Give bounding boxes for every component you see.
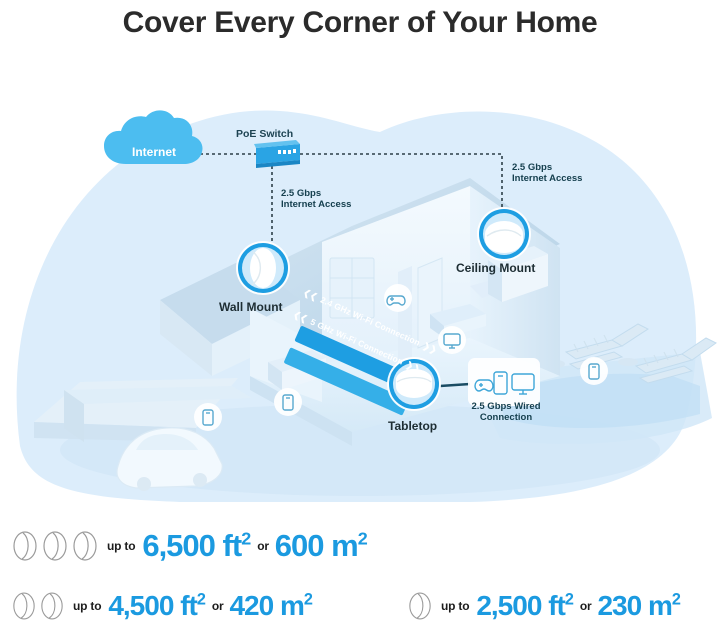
coverage-separator: or bbox=[257, 539, 269, 553]
coverage-row-two-pack: up to 4,500 ft2 or 420 m2 bbox=[12, 590, 313, 622]
home-coverage-diagram: ❮❮2.4 GHz Wi-Fi Connection❯❯ ❮❮5 GHz Wi-… bbox=[0, 46, 720, 506]
ceiling-mount-uplink-label: 2.5 Gbps Internet Access bbox=[512, 163, 582, 185]
poe-switch-label: PoE Switch bbox=[236, 128, 293, 140]
poe-switch-icon bbox=[254, 140, 300, 168]
deco-unit-icons bbox=[12, 530, 98, 562]
tabletop-label: Tabletop bbox=[388, 420, 437, 434]
wall-mount-label: Wall Mount bbox=[219, 301, 283, 315]
deco-unit-icons bbox=[408, 591, 432, 621]
product-feature-graphic: Cover Every Corner of Your Home bbox=[0, 0, 720, 628]
deco-unit-icon bbox=[12, 530, 38, 562]
client-device-phone-room bbox=[274, 388, 302, 416]
coverage-row-three-pack: up to 6,500 ft2 or 600 m2 bbox=[12, 528, 368, 564]
client-device-phone-poolside bbox=[580, 357, 608, 385]
page-title: Cover Every Corner of Your Home bbox=[0, 0, 720, 46]
coverage-prefix: up to bbox=[441, 599, 469, 613]
coverage-separator: or bbox=[580, 599, 592, 613]
tabletop-wired-label: 2.5 Gbps Wired Connection bbox=[458, 402, 554, 424]
coverage-metric-value: 600 m2 bbox=[275, 528, 368, 564]
deco-unit-icons bbox=[12, 591, 64, 621]
deco-unit-icon bbox=[12, 591, 36, 621]
wall-mount-uplink-label: 2.5 Gbps Internet Access bbox=[281, 189, 351, 211]
deco-unit-icon bbox=[408, 591, 432, 621]
coverage-separator: or bbox=[212, 599, 224, 613]
deco-unit-icon bbox=[42, 530, 68, 562]
internet-cloud-label: Internet bbox=[115, 146, 193, 160]
coverage-stats: up to 6,500 ft2 or 600 m2 up to 4,500 ft… bbox=[0, 506, 720, 628]
wall-mount-node-icon bbox=[236, 241, 290, 295]
client-device-phone-hall bbox=[194, 403, 222, 431]
client-device-gamepad bbox=[384, 284, 412, 312]
coverage-prefix: up to bbox=[107, 539, 135, 553]
coverage-imperial-value: 4,500 ft2 bbox=[108, 590, 206, 622]
ceiling-mount-node-icon bbox=[477, 207, 531, 261]
coverage-imperial-value: 6,500 ft2 bbox=[142, 528, 251, 564]
coverage-prefix: up to bbox=[73, 599, 101, 613]
coverage-imperial-value: 2,500 ft2 bbox=[476, 590, 574, 622]
deco-unit-icon bbox=[72, 530, 98, 562]
coverage-row-one-pack: up to 2,500 ft2 or 230 m2 bbox=[408, 590, 681, 622]
ceiling-mount-label: Ceiling Mount bbox=[456, 262, 535, 276]
diagram-illustration bbox=[0, 46, 720, 506]
coverage-metric-value: 230 m2 bbox=[597, 590, 680, 622]
coverage-metric-value: 420 m2 bbox=[229, 590, 312, 622]
client-device-monitor bbox=[438, 326, 466, 354]
deco-unit-icon bbox=[40, 591, 64, 621]
wired-device-group bbox=[468, 358, 540, 406]
